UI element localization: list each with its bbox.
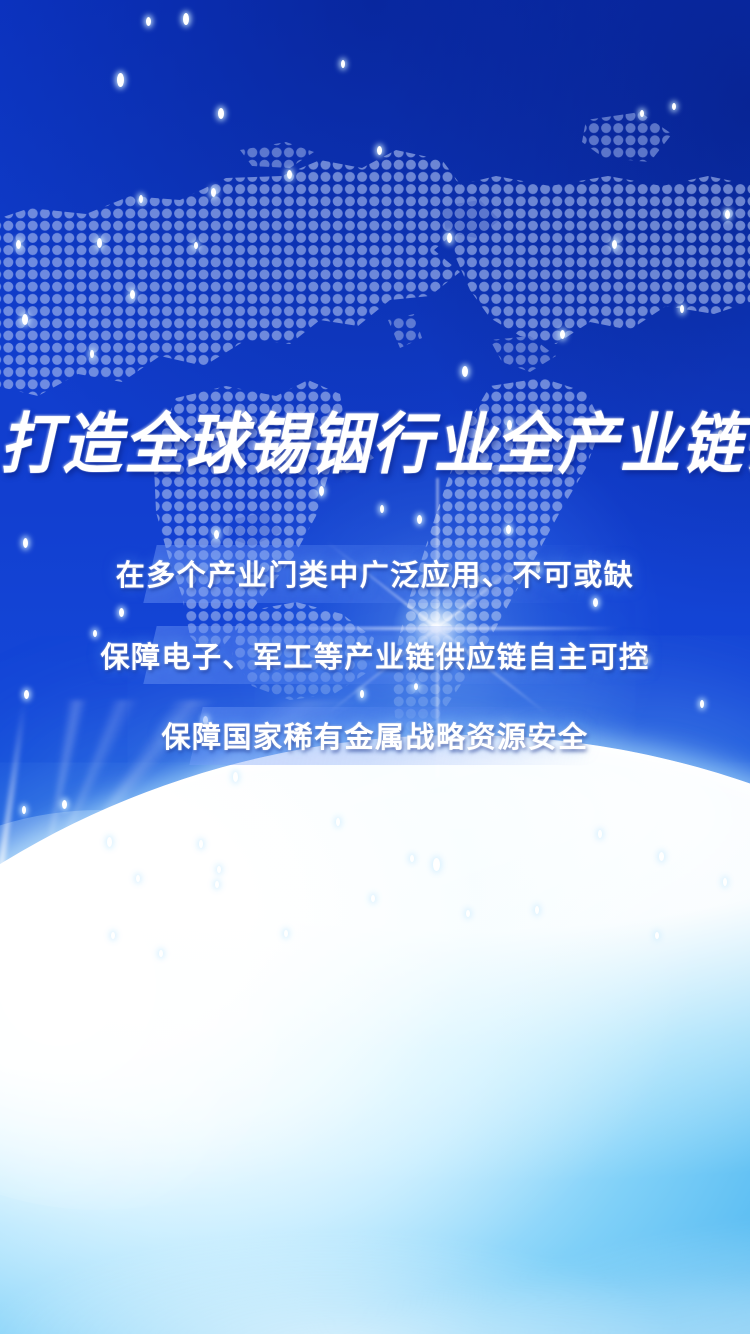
subtitle-line-3: 保障国家稀有金属战略资源安全 [0,724,750,753]
subtitle-line-1: 在多个产业门类中广泛应用、不可或缺 [0,562,750,591]
page-title: 打造全球锡铟行业全产业链链主 [0,412,750,478]
subtitle-line-2: 保障电子、军工等产业链供应链自主可控 [0,644,750,673]
poster-canvas: 打造全球锡铟行业全产业链链主 在多个产业门类中广泛应用、不可或缺 保障电子、军工… [0,0,750,1334]
